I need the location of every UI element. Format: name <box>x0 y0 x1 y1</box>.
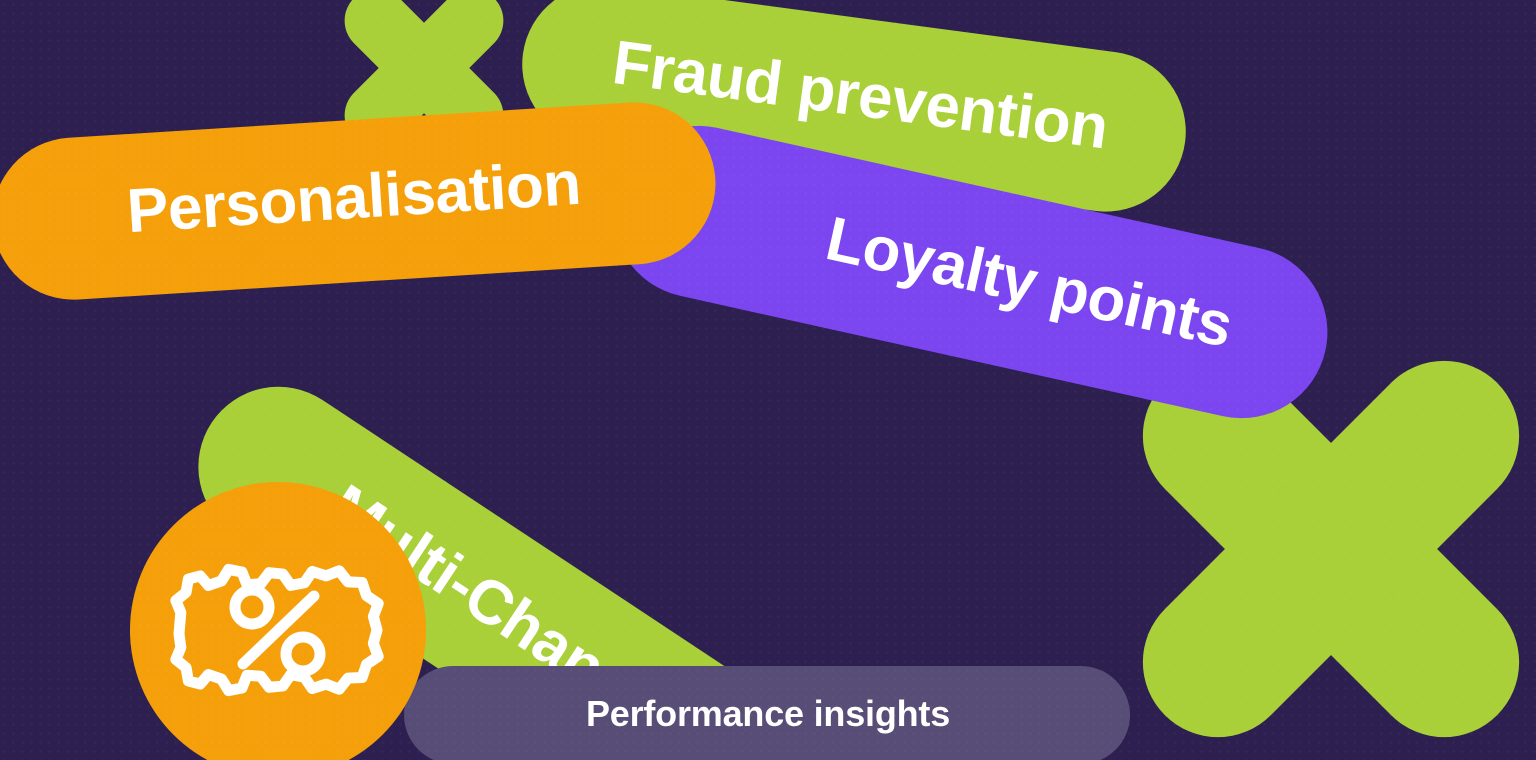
pill-personalisation[interactable]: Personalisation <box>0 97 720 304</box>
pill-personalisation-label: Personalisation <box>125 153 582 243</box>
promo-graphic-canvas: Fraud prevention Loyalty points Multi-Ch… <box>0 0 1536 760</box>
pill-performance-insights[interactable]: Performance insights <box>404 666 1130 760</box>
pill-loyalty-points-label: Loyalty points <box>821 208 1238 358</box>
percent-badge-icon <box>130 482 426 760</box>
pill-performance-insights-label: Performance insights <box>586 696 950 732</box>
